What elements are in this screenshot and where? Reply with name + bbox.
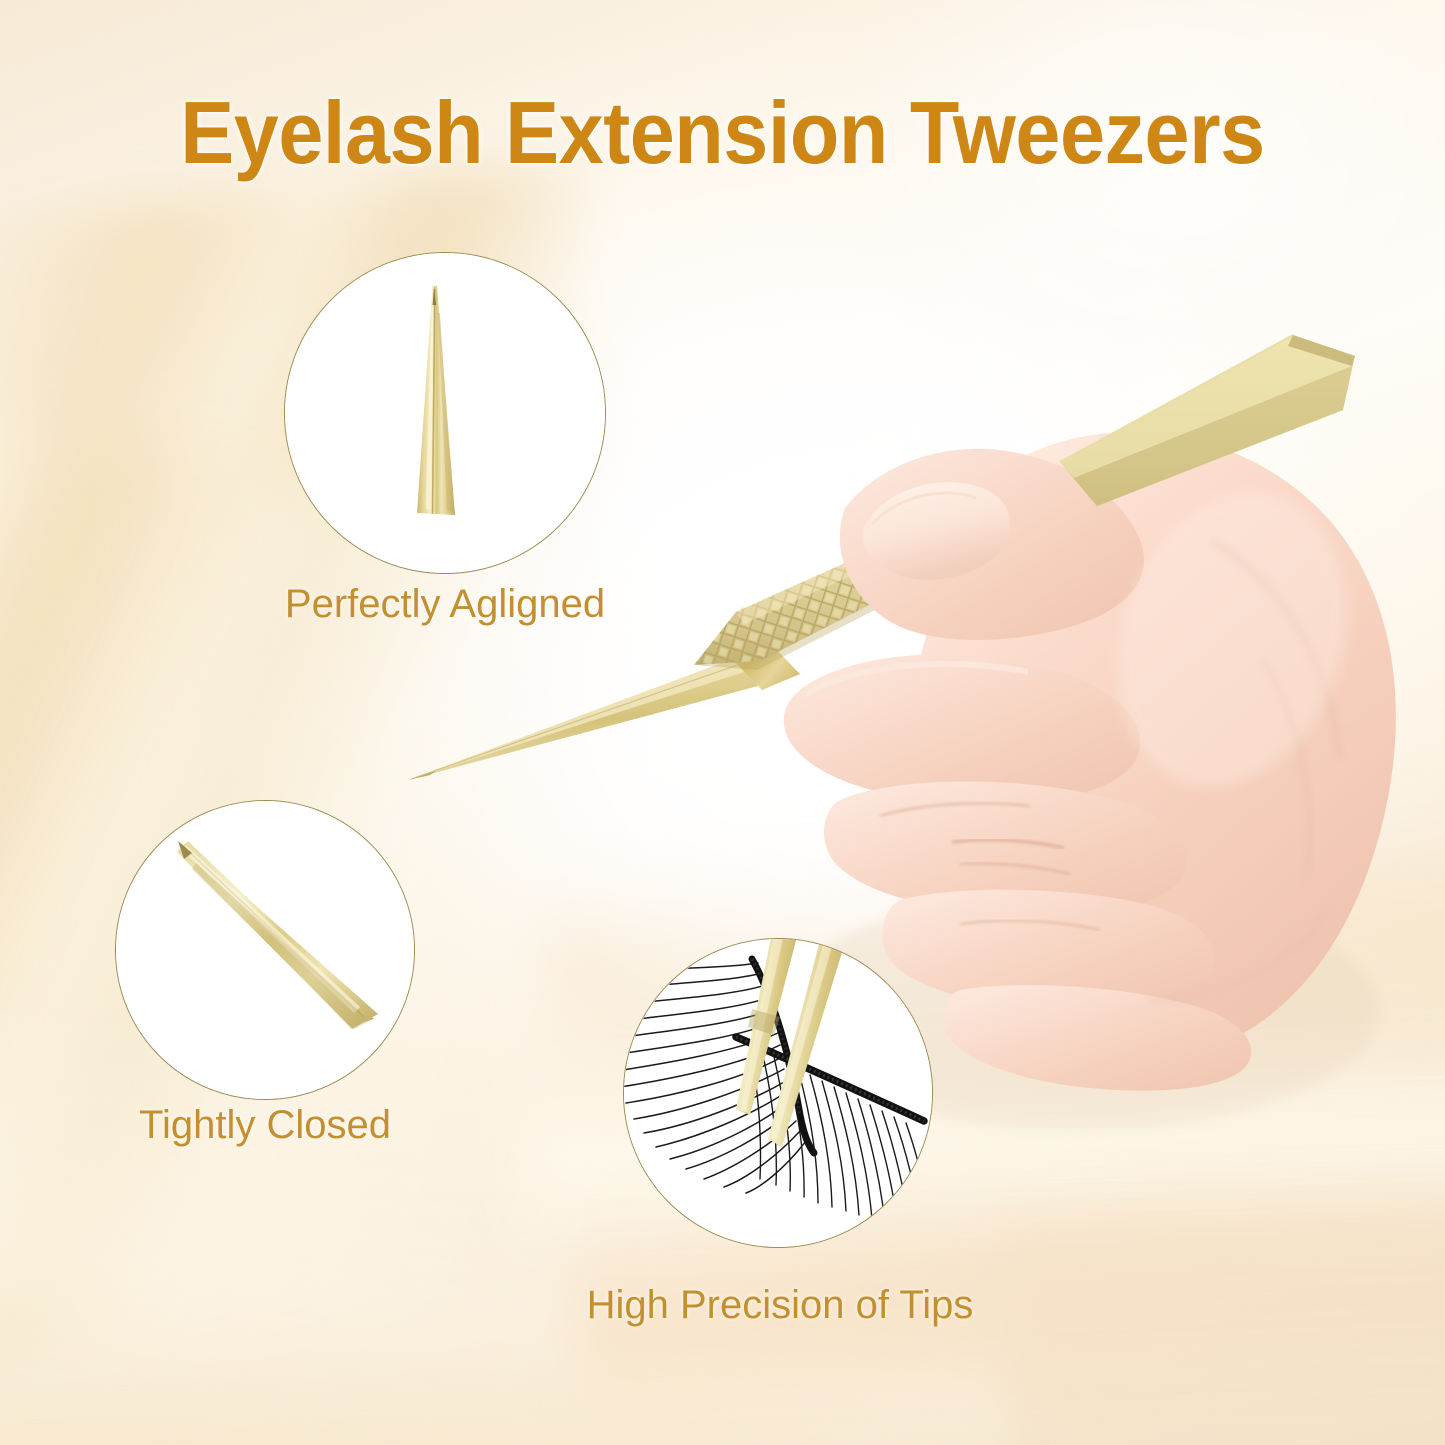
- lash-pickup-icon: [624, 939, 933, 1248]
- page-title: Eyelash Extension Tweezers: [58, 82, 1387, 184]
- callout-circle-perfectly-aligned: [284, 252, 606, 574]
- callout-circle-tightly-closed: [115, 800, 415, 1100]
- callout-caption-high-precision: High Precision of Tips: [450, 1283, 1110, 1328]
- callout-circle-high-precision: [623, 938, 933, 1248]
- callout-caption-perfectly-aligned: Perfectly Agligned: [170, 582, 720, 627]
- tweezer-tip-vertical-icon: [285, 253, 606, 574]
- callout-caption-tightly-closed: Tightly Closed: [0, 1103, 530, 1148]
- product-poster: Eyelash Extension Tweezers: [0, 0, 1445, 1445]
- top-right-glow: [838, 0, 1445, 405]
- tweezer-tip-diagonal-icon: [116, 801, 415, 1100]
